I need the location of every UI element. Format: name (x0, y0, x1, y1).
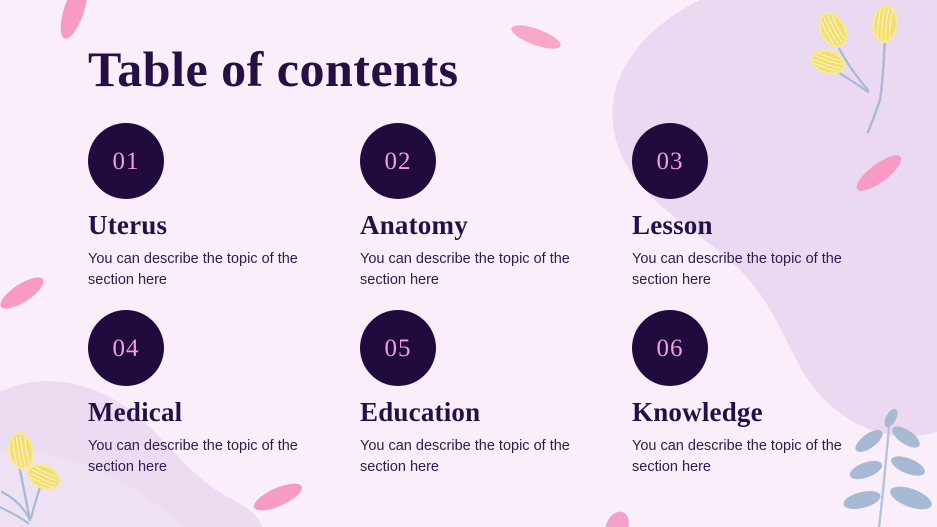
number-badge-02: 02 (360, 123, 436, 199)
number-label: 05 (385, 336, 412, 361)
toc-item-title: Anatomy (360, 211, 632, 241)
number-label: 02 (385, 149, 412, 174)
number-badge-05: 05 (360, 310, 436, 386)
number-label: 01 (113, 149, 140, 174)
slide-content: Table of contents 01 Uterus You can desc… (0, 0, 937, 527)
toc-item-02[interactable]: 02 Anatomy You can describe the topic of… (360, 123, 632, 310)
slide-canvas: Table of contents 01 Uterus You can desc… (0, 0, 937, 527)
toc-item-01[interactable]: 01 Uterus You can describe the topic of … (88, 123, 360, 310)
number-badge-06: 06 (632, 310, 708, 386)
toc-item-description: You can describe the topic of the sectio… (632, 436, 850, 480)
table-of-contents-grid: 01 Uterus You can describe the topic of … (88, 123, 877, 497)
number-label: 06 (657, 336, 684, 361)
toc-item-04[interactable]: 04 Medical You can describe the topic of… (88, 310, 360, 497)
number-badge-01: 01 (88, 123, 164, 199)
toc-item-description: You can describe the topic of the sectio… (632, 249, 850, 293)
toc-item-title: Knowledge (632, 398, 904, 428)
toc-item-title: Lesson (632, 211, 904, 241)
number-label: 04 (113, 336, 140, 361)
toc-item-description: You can describe the topic of the sectio… (360, 436, 578, 480)
number-badge-03: 03 (632, 123, 708, 199)
toc-item-title: Uterus (88, 211, 360, 241)
page-title: Table of contents (88, 42, 877, 97)
toc-item-05[interactable]: 05 Education You can describe the topic … (360, 310, 632, 497)
toc-item-title: Education (360, 398, 632, 428)
toc-item-description: You can describe the topic of the sectio… (88, 249, 306, 293)
toc-item-title: Medical (88, 398, 360, 428)
toc-item-description: You can describe the topic of the sectio… (88, 436, 306, 480)
toc-item-description: You can describe the topic of the sectio… (360, 249, 578, 293)
number-label: 03 (657, 149, 684, 174)
toc-item-06[interactable]: 06 Knowledge You can describe the topic … (632, 310, 904, 497)
number-badge-04: 04 (88, 310, 164, 386)
toc-item-03[interactable]: 03 Lesson You can describe the topic of … (632, 123, 904, 310)
